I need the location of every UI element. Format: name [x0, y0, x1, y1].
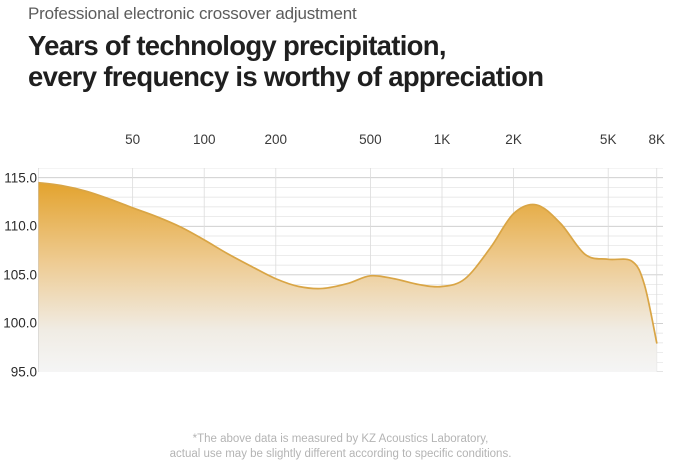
headline-line-1: Years of technology precipitation, — [28, 30, 678, 61]
frequency-response-chart: 501002005001K2K5K8K 115.0110.0105.0100.0… — [0, 128, 681, 413]
headline-line-2: every frequency is worthy of appreciatio… — [28, 61, 678, 92]
footnote-line-1: *The above data is measured by KZ Acoust… — [0, 432, 681, 447]
x-tick-label: 500 — [359, 132, 382, 147]
x-tick-label: 100 — [193, 132, 216, 147]
plot-area — [38, 168, 663, 372]
y-axis: 115.0110.0105.0100.095.0 — [0, 128, 40, 413]
x-axis: 501002005001K2K5K8K — [0, 128, 681, 154]
y-tick-label: 100.0 — [3, 316, 37, 331]
y-tick-label: 110.0 — [4, 219, 37, 234]
x-tick-label: 2K — [505, 132, 522, 147]
eyebrow-text: Professional electronic crossover adjust… — [28, 2, 678, 26]
chart-svg — [38, 168, 663, 372]
x-tick-label: 8K — [648, 132, 665, 147]
x-tick-label: 50 — [125, 132, 140, 147]
footnote-line-2: actual use may be slightly different acc… — [0, 447, 681, 462]
y-tick-label: 95.0 — [11, 365, 37, 380]
y-tick-label: 115.0 — [4, 170, 37, 185]
x-tick-label: 5K — [600, 132, 617, 147]
footnote: *The above data is measured by KZ Acoust… — [0, 432, 681, 462]
x-tick-label: 200 — [265, 132, 288, 147]
x-tick-label: 1K — [434, 132, 451, 147]
page-header: Professional electronic crossover adjust… — [28, 2, 678, 92]
page-title: Years of technology precipitation, every… — [28, 30, 678, 92]
y-tick-label: 105.0 — [3, 267, 37, 282]
